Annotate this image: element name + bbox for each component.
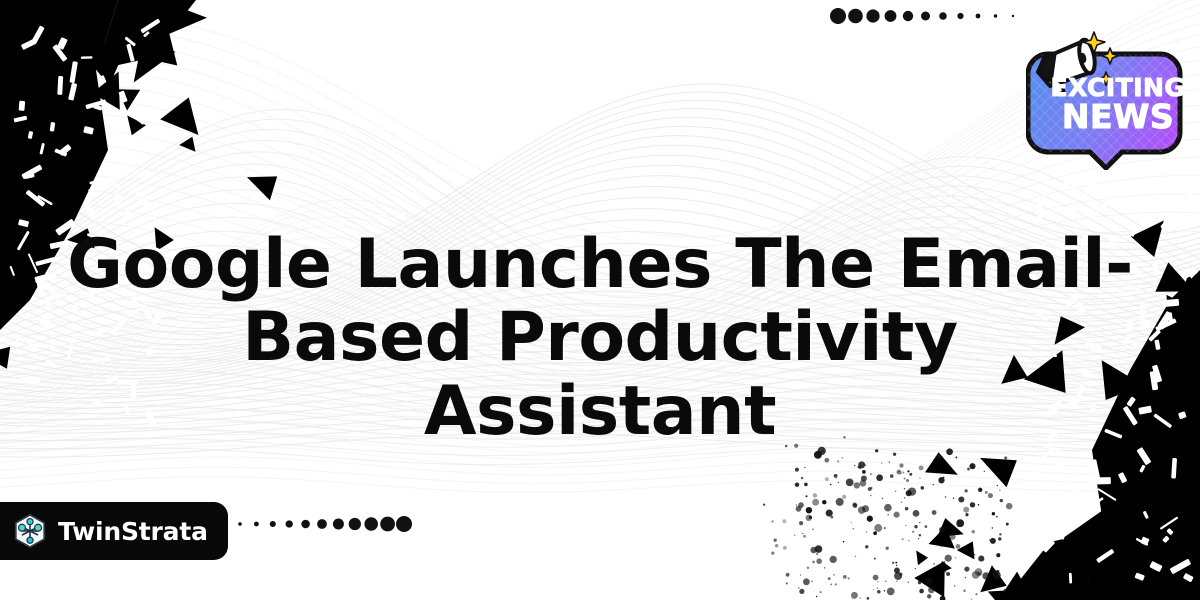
- badge-line2: NEWS: [1062, 97, 1174, 136]
- badge-text: EXCITING NEWS: [1051, 73, 1186, 136]
- brand-logo-pill[interactable]: TwinStrata: [0, 502, 228, 560]
- news-banner: Google Launches The Email- Based Product…: [0, 0, 1200, 600]
- headline-block: Google Launches The Email- Based Product…: [60, 228, 1140, 448]
- page-title: Google Launches The Email- Based Product…: [60, 228, 1140, 448]
- dot-row-top: [830, 8, 1014, 24]
- dot-row-bottom: [238, 516, 412, 532]
- network-nodes-hexagon-icon: [12, 513, 48, 549]
- exciting-news-badge: EXCITING NEWS: [1026, 22, 1186, 170]
- brand-name-label: TwinStrata: [58, 519, 208, 544]
- dot-field: [763, 436, 1013, 600]
